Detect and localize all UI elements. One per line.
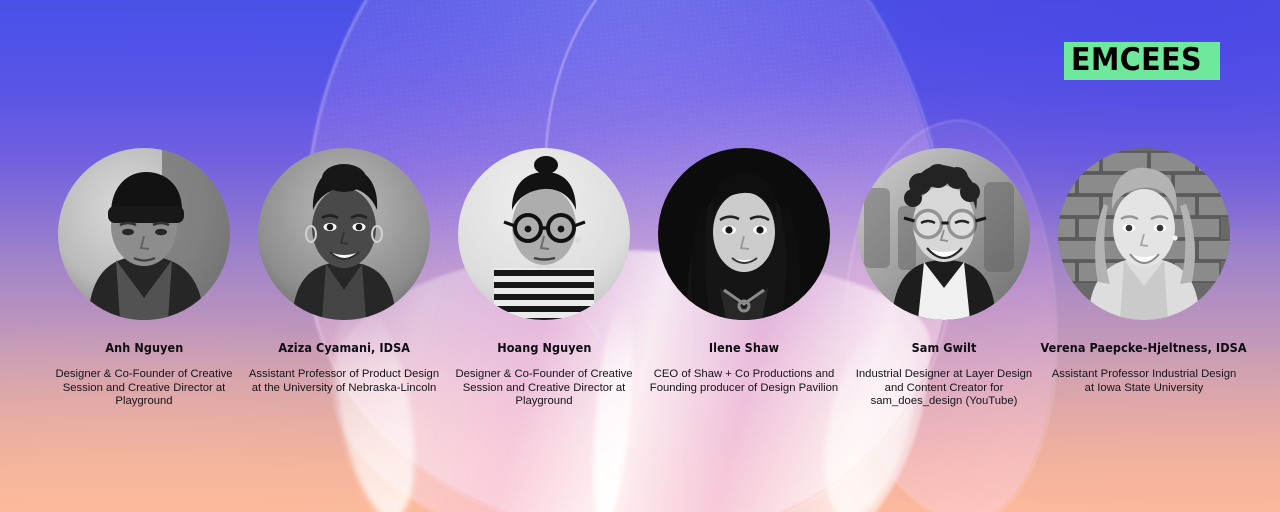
speaker-description: CEO of Shaw + Co Productions and Foundin… [646, 368, 842, 395]
speaker-card[interactable]: Ilene Shaw CEO of Shaw + Co Productions … [644, 148, 844, 409]
speaker-card[interactable]: Verena Paepcke-Hjeltness, IDSA Assistant… [1044, 148, 1244, 409]
speaker-description: Designer & Co-Founder of Creative Sessio… [446, 368, 642, 409]
speaker-name: Anh Nguyen [105, 340, 183, 355]
speaker-description: Designer & Co-Founder of Creative Sessio… [46, 368, 242, 409]
portrait-hoang-nguyen-avatar [458, 148, 630, 320]
speaker-card[interactable]: Hoang Nguyen Designer & Co-Founder of Cr… [444, 148, 644, 409]
portrait-verena-paepcke-hjeltness-avatar [1058, 148, 1230, 320]
speaker-description: Assistant Professor Industrial Design at… [1046, 368, 1242, 395]
speaker-description: Assistant Professor of Product Design at… [246, 368, 442, 395]
portrait-anh-nguyen-avatar [58, 148, 230, 320]
portrait-sam-gwilt-avatar [858, 148, 1030, 320]
speaker-name: Aziza Cyamani, IDSA [278, 340, 410, 355]
speaker-card[interactable]: Anh Nguyen Designer & Co-Founder of Crea… [44, 148, 244, 409]
emcees-banner: EMCEES [0, 0, 1280, 512]
speaker-card[interactable]: Aziza Cyamani, IDSA Assistant Professor … [244, 148, 444, 409]
emcees-badge-label: EMCEES [1071, 45, 1202, 76]
portrait-ilene-shaw-avatar [658, 148, 830, 320]
emcees-badge: EMCEES [1064, 42, 1220, 80]
speaker-name: Hoang Nguyen [497, 340, 591, 355]
speaker-name: Sam Gwilt [912, 340, 977, 355]
speaker-name: Ilene Shaw [709, 340, 779, 355]
speaker-card[interactable]: Sam Gwilt Industrial Designer at Layer D… [844, 148, 1044, 409]
speaker-name: Verena Paepcke-Hjeltness, IDSA [1041, 340, 1247, 355]
speaker-description: Industrial Designer at Layer Design and … [846, 368, 1042, 409]
portrait-aziza-cyamani-avatar [258, 148, 430, 320]
speaker-list: Anh Nguyen Designer & Co-Founder of Crea… [0, 148, 1280, 409]
